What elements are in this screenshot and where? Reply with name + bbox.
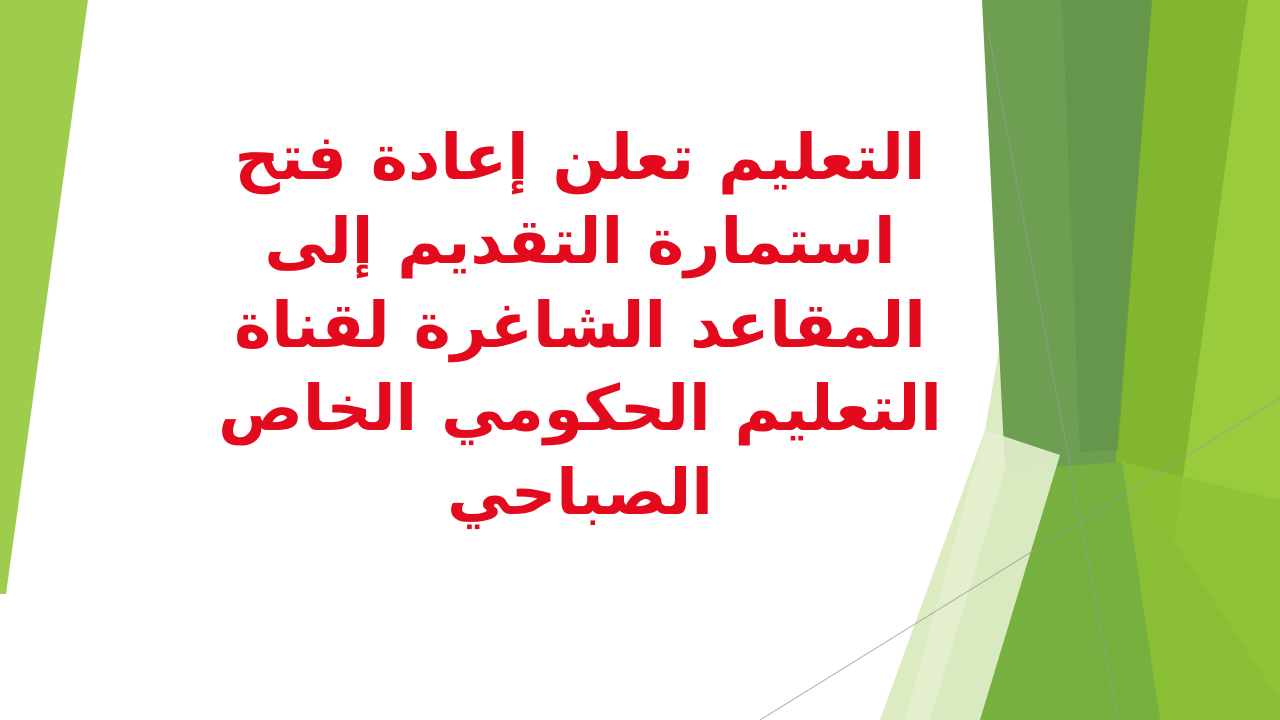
left-green-wedge: [0, 0, 88, 594]
slide-title: التعليم تعلن إعادة فتح استمارة التقديم إ…: [150, 116, 1010, 535]
presentation-slide: التعليم تعلن إعادة فتح استمارة التقديم إ…: [0, 0, 1280, 720]
right-lower-bright-polygon: [1122, 462, 1280, 720]
title-placeholder: التعليم تعلن إعادة فتح استمارة التقديم إ…: [150, 116, 1010, 536]
right-dark-green-polygon: [1062, 0, 1152, 452]
right-bright-green-polygon: [1020, 0, 1280, 720]
right-light-green-polygon: [1150, 0, 1280, 720]
